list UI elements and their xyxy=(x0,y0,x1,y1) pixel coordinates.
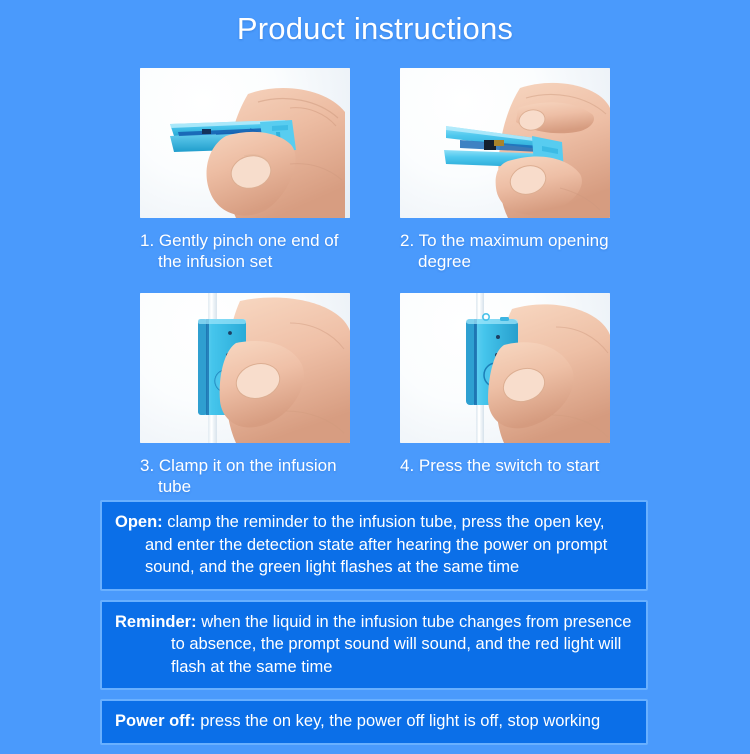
step-4-caption: 4. Press the switch to start xyxy=(400,455,610,476)
panel-power-off-label: Power off: xyxy=(115,712,196,730)
page-title: Product instructions xyxy=(0,9,750,49)
illustration-open-clip xyxy=(400,68,610,218)
photo-step-2-maximum-opening xyxy=(400,68,610,218)
step-row-bottom: 3. Clamp it on the infusion tube xyxy=(140,293,610,497)
step-3-caption: 3. Clamp it on the infusion tube xyxy=(140,455,350,497)
panel-open-body: clamp the reminder to the infusion tube,… xyxy=(145,513,607,576)
panel-reminder: Reminder: when the liquid in the infusio… xyxy=(100,600,648,691)
illustration-pinch-clip xyxy=(140,68,350,218)
panel-power-off: Power off: press the on key, the power o… xyxy=(100,699,648,745)
info-panels: Open: clamp the reminder to the infusion… xyxy=(100,500,648,754)
step-row-top: 1. Gently pinch one end of the infusion … xyxy=(140,68,610,272)
panel-reminder-label: Reminder: xyxy=(115,613,197,631)
panel-open-label: Open: xyxy=(115,513,163,531)
illustration-press-switch xyxy=(400,293,610,443)
step-1: 1. Gently pinch one end of the infusion … xyxy=(140,68,350,272)
panel-open: Open: clamp the reminder to the infusion… xyxy=(100,500,648,591)
panel-reminder-body: when the liquid in the infusion tube cha… xyxy=(171,613,631,676)
step-4: 4. Press the switch to start xyxy=(400,293,610,497)
panel-power-off-text: Power off: press the on key, the power o… xyxy=(115,710,634,733)
photo-step-4-press-switch xyxy=(400,293,610,443)
step-2: 2. To the maximum opening degree xyxy=(400,68,610,272)
steps-grid: 1. Gently pinch one end of the infusion … xyxy=(140,68,610,497)
step-2-caption: 2. To the maximum opening degree xyxy=(400,230,610,272)
step-3: 3. Clamp it on the infusion tube xyxy=(140,293,350,497)
panel-open-text: Open: clamp the reminder to the infusion… xyxy=(115,511,634,579)
illustration-clamp-tube xyxy=(140,293,350,443)
panel-reminder-text: Reminder: when the liquid in the infusio… xyxy=(115,611,634,679)
step-1-caption: 1. Gently pinch one end of the infusion … xyxy=(140,230,350,272)
photo-step-1-pinch-infusion-set xyxy=(140,68,350,218)
photo-step-3-clamp-on-tube xyxy=(140,293,350,443)
panel-power-off-body: press the on key, the power off light is… xyxy=(196,712,600,730)
